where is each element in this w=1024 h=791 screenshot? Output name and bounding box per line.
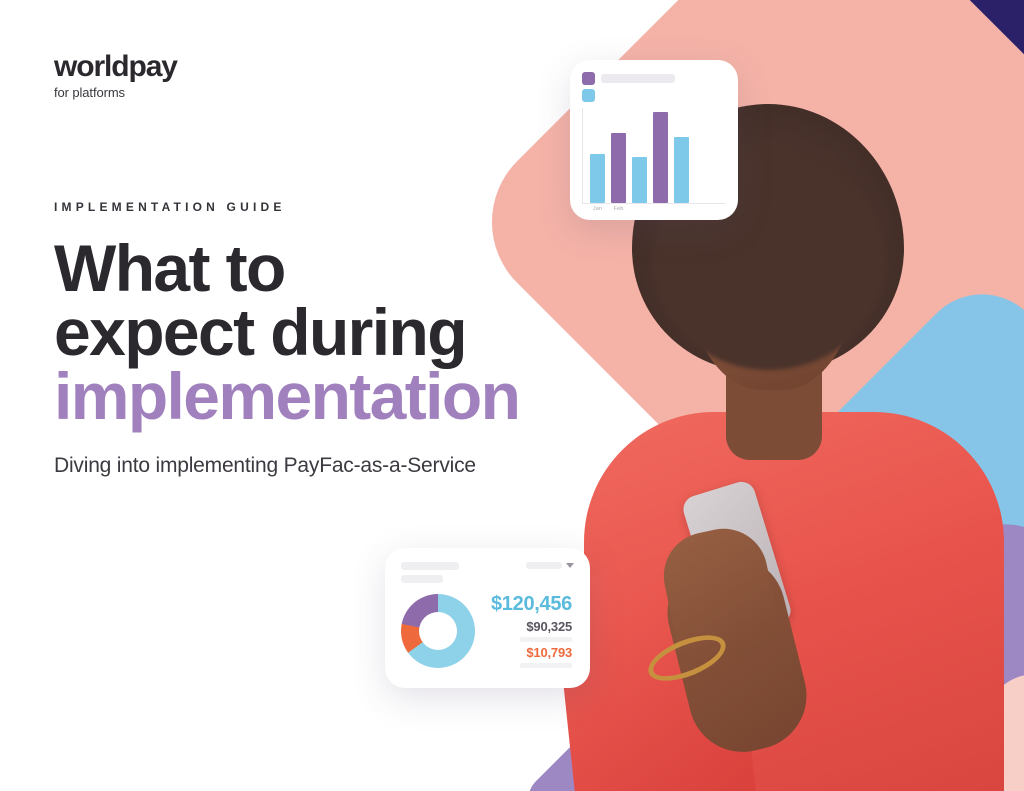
figure-total-primary: $120,456 (491, 593, 572, 616)
bar-chart-legend-row-2 (582, 89, 726, 102)
bar-4 (653, 112, 668, 203)
legend-swatch-blue (582, 89, 595, 102)
legend-swatch-purple (582, 72, 595, 85)
dropdown-label-placeholder (526, 562, 562, 569)
donut-card-header (401, 562, 574, 583)
title-skeleton-line-2 (401, 575, 443, 583)
figure-skeleton-rule-1 (520, 637, 572, 642)
x-tick-4 (653, 206, 668, 212)
figure-secondary: $90,325 (526, 619, 572, 634)
donut-card-body: $120,456 $90,325 $10,793 (401, 593, 574, 668)
bar-chart-legend-row-1 (582, 72, 726, 85)
chevron-down-icon (566, 563, 574, 568)
donut-card-title-placeholder (401, 562, 459, 583)
donut-chart (401, 594, 475, 668)
bar-3 (632, 157, 647, 203)
eyebrow-label: IMPLEMENTATION GUIDE (54, 200, 634, 214)
title-skeleton-line-1 (401, 562, 459, 570)
page-title: What to expect during implementation (54, 236, 634, 428)
headline-line-1: What to (54, 231, 285, 305)
logo-tagline: for platforms (54, 85, 177, 100)
donut-chart-card: $120,456 $90,325 $10,793 (385, 548, 590, 688)
logo-wordmark: worldpay (54, 52, 177, 82)
x-tick-5 (674, 206, 689, 212)
cover-page: worldpay for platforms Jan Feb (0, 0, 1024, 791)
bar-chart-card: Jan Feb (570, 60, 738, 220)
donut-figure-list: $120,456 $90,325 $10,793 (491, 593, 574, 668)
bar-5 (674, 137, 689, 204)
figure-skeleton-rule-2 (520, 663, 572, 668)
figure-tertiary: $10,793 (526, 645, 572, 660)
bar-1 (590, 154, 605, 203)
bar-2 (611, 133, 626, 203)
worldpay-logo: worldpay for platforms (54, 52, 177, 100)
headline-accent-line: implementation (54, 364, 634, 428)
bar-chart-plot-area (582, 108, 726, 204)
cover-text-block: IMPLEMENTATION GUIDE What to expect duri… (54, 200, 634, 478)
page-subtitle: Diving into implementing PayFac-as-a-Ser… (54, 454, 634, 478)
period-dropdown[interactable] (526, 562, 574, 569)
x-tick-3 (632, 206, 647, 212)
headline-line-2: expect during (54, 295, 466, 369)
legend-label-placeholder-1 (601, 74, 675, 83)
